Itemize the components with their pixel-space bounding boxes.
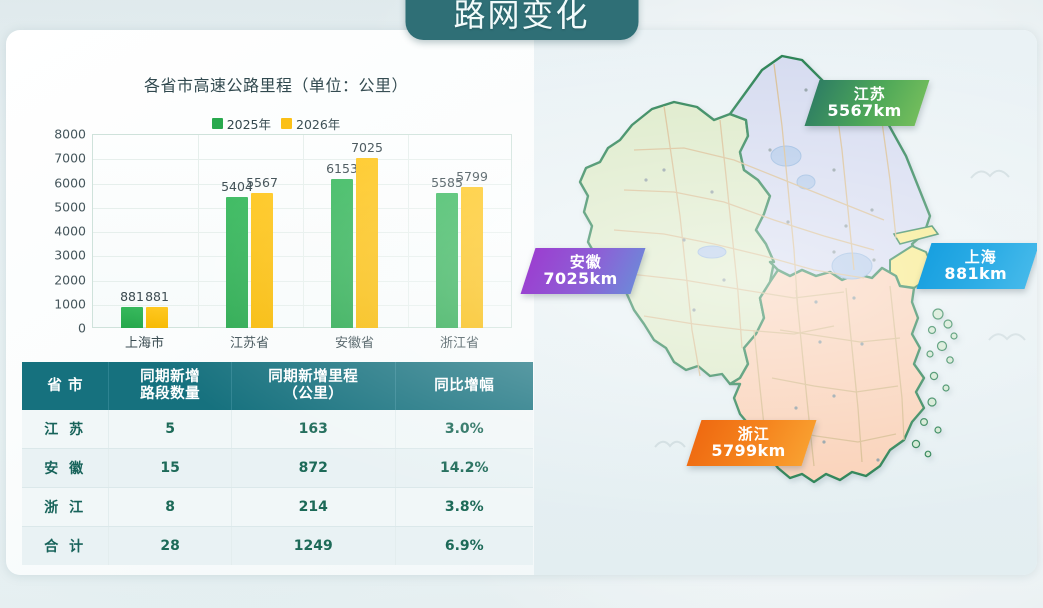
bar-group: 881881 (92, 134, 197, 328)
legend-label-2025: 2025年 (227, 114, 271, 133)
table-header-cell: 同比增幅 (395, 362, 533, 410)
table-cell-new-mileage: 214 (231, 488, 395, 527)
map-callout-shanghai[interactable]: 上海 881km (917, 243, 1037, 289)
table-row: 江 苏51633.0% (22, 410, 533, 449)
table-cell-new-mileage: 1249 (231, 527, 395, 566)
y-axis-tick-label: 1000 (54, 296, 86, 311)
bar-group: 55855799 (407, 134, 512, 328)
y-axis-tick-label: 0 (78, 321, 86, 336)
bar-2026[interactable]: 881 (146, 307, 168, 328)
table-cell-new-mileage: 163 (231, 410, 395, 449)
y-axis-tick-label: 4000 (54, 224, 86, 239)
legend-swatch-2025 (212, 118, 223, 129)
map-callout-shanghai-value: 881km (944, 265, 1007, 283)
table-cell-new-mileage: 872 (231, 449, 395, 488)
table-cell-province: 安 徽 (22, 449, 109, 488)
bar-2025[interactable]: 881 (121, 307, 143, 328)
map-callout-anhui-name: 安徽 (570, 254, 602, 271)
table-cell-province: 江 苏 (22, 410, 109, 449)
table-body: 江 苏51633.0%安 徽1587214.2%浙 江82143.8%合 计28… (22, 410, 533, 565)
left-column: 各省市高速公路里程（单位：公里） 2025年 2026年 80007000600… (6, 30, 546, 575)
y-axis-tick-label: 3000 (54, 248, 86, 263)
map-callout-jiangsu[interactable]: 江苏 5567km (805, 80, 930, 126)
table-cell-new-segments: 8 (109, 488, 232, 527)
content-card: 各省市高速公路里程（单位：公里） 2025年 2026年 80007000600… (6, 30, 1037, 575)
map-callout-zhejiang-name: 浙江 (738, 426, 770, 443)
page-root: 各省市高速公路里程（单位：公里） 2025年 2026年 80007000600… (0, 0, 1043, 608)
table-row: 合 计2812496.9% (22, 527, 533, 566)
y-axis-tick-label: 6000 (54, 175, 86, 190)
bar-value-label: 881 (145, 289, 169, 304)
table-cell-yoy-growth: 3.0% (395, 410, 533, 449)
table-header-cell: 同期新增里程（公里） (231, 362, 395, 410)
map-callout-jiangsu-name: 江苏 (854, 86, 886, 103)
x-axis-label: 浙江省 (407, 332, 512, 351)
bar-value-label: 6153 (326, 161, 358, 176)
y-axis-tick-label: 7000 (54, 151, 86, 166)
summary-table: 省 市同期新增路段数量同期新增里程（公里）同比增幅 江 苏51633.0%安 徽… (22, 362, 533, 565)
legend-label-2026: 2026年 (296, 114, 340, 133)
y-axis-tick-label: 8000 (54, 127, 86, 142)
page-title: 路网变化 (453, 0, 589, 36)
map-callout-zhejiang-value: 5799km (712, 442, 786, 460)
chart-legend: 2025年 2026年 (6, 114, 546, 133)
table-cell-province: 合 计 (22, 527, 109, 566)
table-cell-yoy-growth: 14.2% (395, 449, 533, 488)
bar-2025[interactable]: 6153 (331, 179, 353, 328)
table-cell-yoy-growth: 3.8% (395, 488, 533, 527)
table-header-cell: 同期新增路段数量 (109, 362, 232, 410)
bar-2025[interactable]: 5585 (436, 193, 458, 328)
x-axis-label: 安徽省 (302, 332, 407, 351)
table-header-cell: 省 市 (22, 362, 109, 410)
x-axis-labels: 上海市江苏省安徽省浙江省 (92, 332, 512, 351)
legend-swatch-2026 (281, 118, 292, 129)
table-header-row: 省 市同期新增路段数量同期新增里程（公里）同比增幅 (22, 362, 533, 410)
bar-value-label: 881 (120, 289, 144, 304)
map-callout-zhejiang[interactable]: 浙江 5799km (687, 420, 817, 466)
table-row: 浙 江82143.8% (22, 488, 533, 527)
bar-2025[interactable]: 5404 (226, 197, 248, 328)
map-panel: 江苏 5567km 安徽 7025km 上海 881km 浙江 5799km (534, 30, 1037, 575)
map-callout-anhui-value: 7025km (543, 270, 617, 288)
bar-value-label: 5799 (456, 169, 488, 184)
chart-title: 各省市高速公路里程（单位：公里） (6, 72, 546, 96)
table-cell-yoy-growth: 6.9% (395, 527, 533, 566)
legend-item-2026: 2026年 (281, 114, 340, 133)
bar-2026[interactable]: 5799 (461, 187, 483, 328)
bar-value-label: 7025 (351, 140, 383, 155)
x-axis-label: 上海市 (92, 332, 197, 351)
table-cell-new-segments: 15 (109, 449, 232, 488)
table-cell-province: 浙 江 (22, 488, 109, 527)
map-callout-anhui[interactable]: 安徽 7025km (521, 248, 646, 294)
table-header: 省 市同期新增路段数量同期新增里程（公里）同比增幅 (22, 362, 533, 410)
bar-2026[interactable]: 5567 (251, 193, 273, 328)
table-cell-new-segments: 28 (109, 527, 232, 566)
bar-2026[interactable]: 7025 (356, 158, 378, 328)
bar-value-label: 5567 (246, 175, 278, 190)
map-callout-shanghai-name: 上海 (965, 249, 997, 266)
chart-bar-groups: 881881540455676153702555855799 (92, 134, 512, 328)
table-row: 安 徽1587214.2% (22, 449, 533, 488)
bar-chart: 800070006000500040003000200010000 881881… (30, 134, 520, 384)
x-axis-label: 江苏省 (197, 332, 302, 351)
y-axis-tick-label: 2000 (54, 272, 86, 287)
page-title-banner: 路网变化 (405, 0, 638, 40)
legend-item-2025: 2025年 (212, 114, 271, 133)
bar-group: 54045567 (197, 134, 302, 328)
yangtze-delta-map (534, 30, 1037, 575)
table-cell-new-segments: 5 (109, 410, 232, 449)
map-callout-jiangsu-value: 5567km (827, 102, 901, 120)
bar-group: 61537025 (302, 134, 407, 328)
y-axis-tick-label: 5000 (54, 199, 86, 214)
